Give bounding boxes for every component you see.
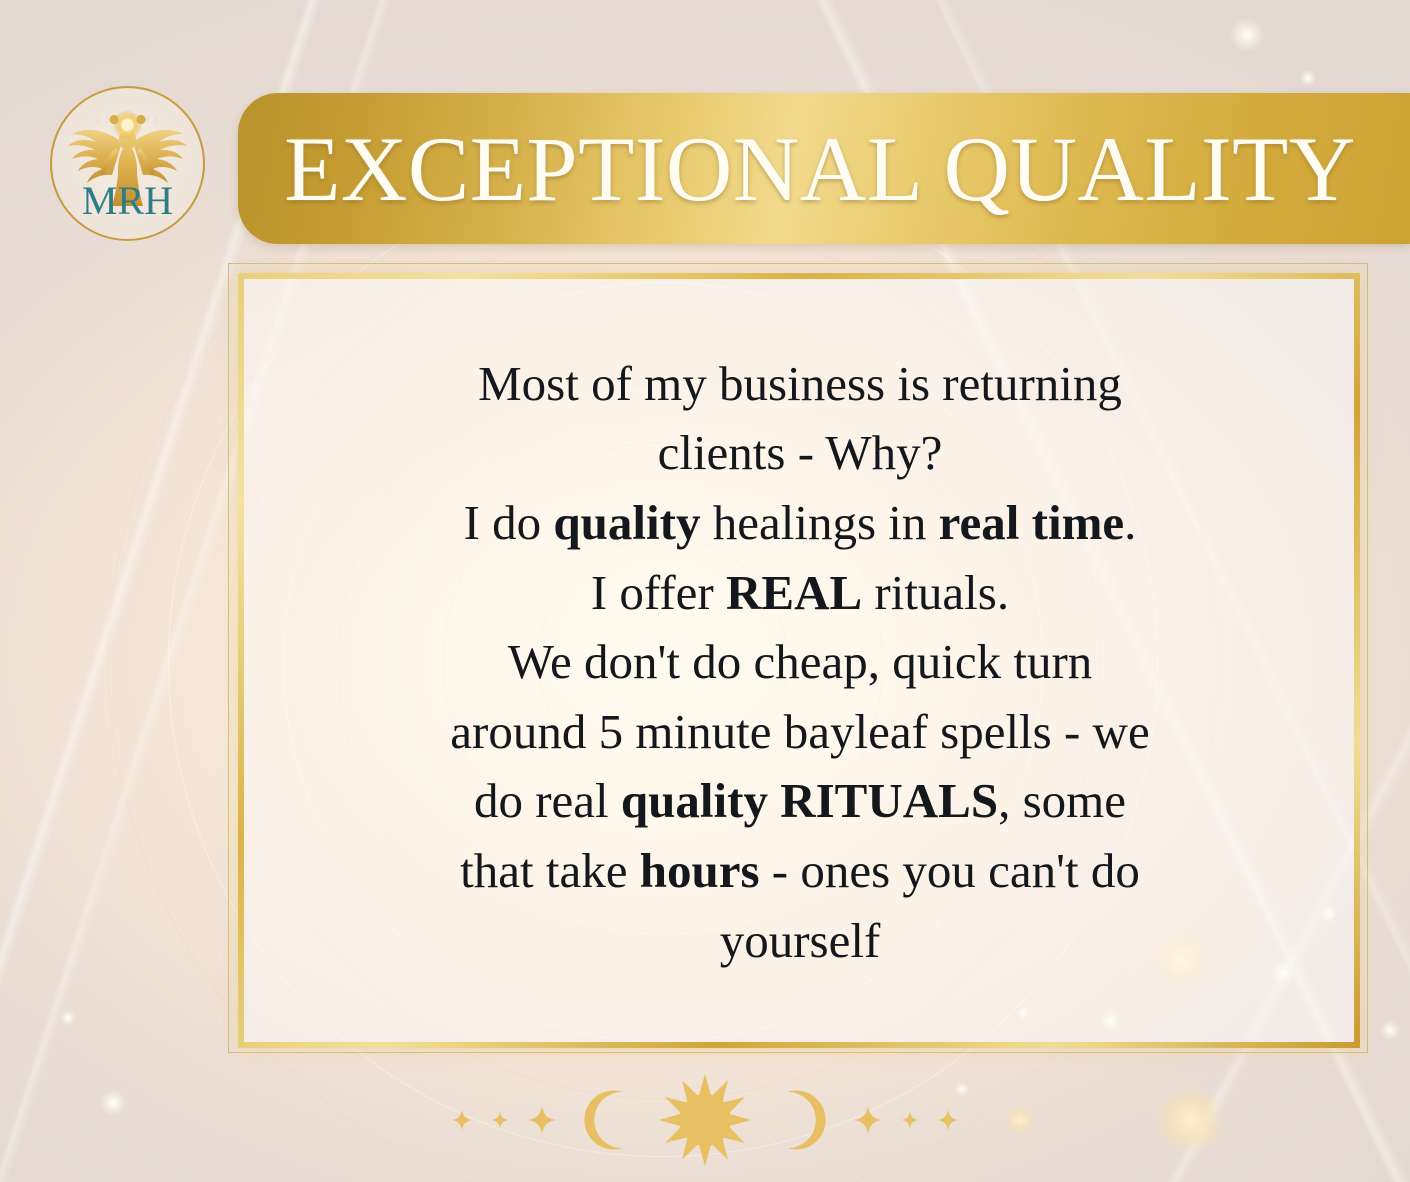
body-line: We don't do cheap, quick turn — [508, 627, 1093, 697]
body-line: I do quality healings in real time. — [464, 488, 1137, 558]
poster-canvas: MRH EXCEPTIONAL QUALITY Most of my busin… — [0, 0, 1410, 1182]
plain-text: that take — [460, 843, 640, 898]
page-title: EXCEPTIONAL QUALITY — [284, 123, 1356, 215]
crescent-moon-right-icon — [575, 1088, 639, 1152]
sparkle-icon — [853, 1105, 883, 1135]
plain-text: rituals. — [862, 565, 1009, 620]
crescent-moon-left-icon — [771, 1088, 835, 1152]
logo-monogram: MRH — [50, 181, 205, 221]
plain-text: Most of my business is returning — [478, 356, 1122, 411]
header-banner: EXCEPTIONAL QUALITY — [238, 93, 1410, 244]
plain-text: clients - Why? — [658, 425, 943, 480]
bottom-decoration-row — [0, 1070, 1410, 1170]
body-line: around 5 minute bayleaf spells - we — [450, 697, 1149, 767]
plain-text: do real — [474, 773, 621, 828]
brand-logo: MRH — [50, 86, 205, 241]
emphasis-text: hours — [640, 843, 760, 898]
body-line: clients - Why? — [658, 418, 943, 488]
plain-text: I offer — [591, 565, 726, 620]
plain-text: I do — [464, 495, 554, 550]
plain-text: yourself — [720, 913, 881, 968]
sun-icon — [657, 1072, 753, 1168]
body-line: I offer REAL rituals. — [591, 558, 1009, 628]
body-line: Most of my business is returning — [478, 349, 1122, 419]
emphasis-text: quality RITUALS — [621, 773, 998, 828]
plain-text: healings in — [700, 495, 938, 550]
body-line: yourself — [720, 906, 881, 976]
sparkle-icon — [901, 1111, 919, 1129]
sparkle-icon — [937, 1109, 959, 1131]
sparkle-icon — [527, 1105, 557, 1135]
emphasis-text: REAL — [726, 565, 862, 620]
plain-text: . — [1124, 495, 1136, 550]
emphasis-text: quality — [553, 495, 700, 550]
body-text-block: Most of my business is returningclients … — [260, 292, 1340, 1032]
body-line: that take hours - ones you can't do — [460, 836, 1140, 906]
plain-text: around 5 minute bayleaf spells - we — [450, 704, 1149, 759]
sparkle-icon — [451, 1109, 473, 1131]
sparkle-icon — [491, 1111, 509, 1129]
plain-text: , some — [998, 773, 1126, 828]
body-line: do real quality RITUALS, some — [474, 766, 1126, 836]
emphasis-text: real time — [939, 495, 1124, 550]
plain-text: - ones you can't do — [760, 843, 1140, 898]
plain-text: We don't do cheap, quick turn — [508, 634, 1093, 689]
